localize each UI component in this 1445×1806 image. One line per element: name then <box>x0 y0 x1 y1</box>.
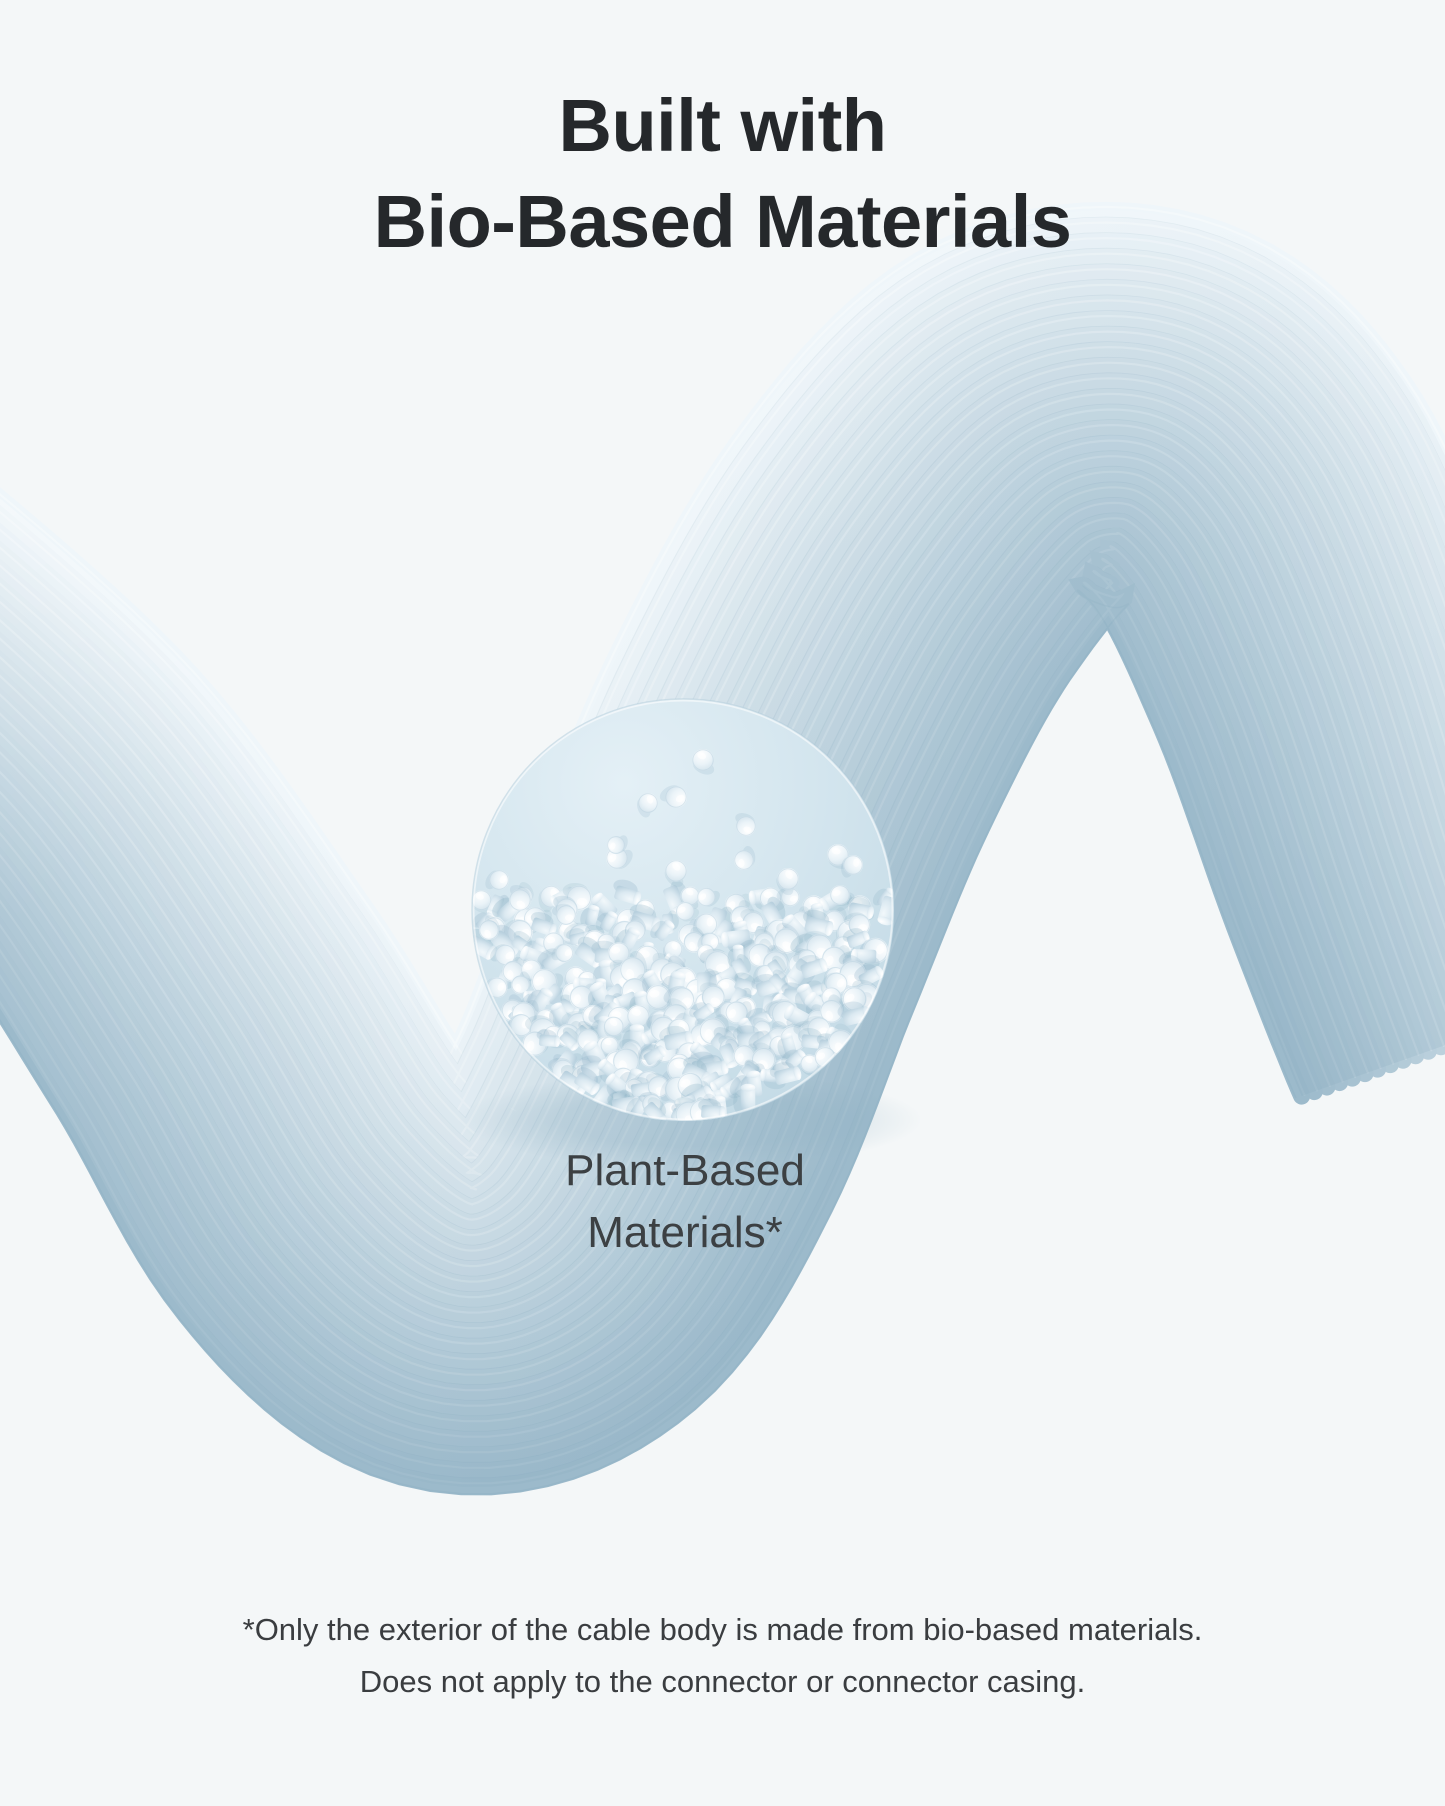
footnote-line-2: Does not apply to the connector or conne… <box>0 1656 1445 1708</box>
product-feature-banner: Built with Bio-Based Materials Plant-Bas… <box>0 0 1445 1806</box>
footnote-line-1: *Only the exterior of the cable body is … <box>0 1604 1445 1656</box>
inset-caption-line-2: Materials* <box>455 1202 915 1264</box>
page-title-line-2: Bio-Based Materials <box>0 174 1445 270</box>
inset-caption: Plant-Based Materials* <box>455 1140 915 1264</box>
cable-artwork <box>0 0 1445 1806</box>
page-title: Built with Bio-Based Materials <box>0 78 1445 270</box>
footnote-disclaimer: *Only the exterior of the cable body is … <box>0 1604 1445 1708</box>
inset-caption-line-1: Plant-Based <box>455 1140 915 1202</box>
page-title-line-1: Built with <box>0 78 1445 174</box>
